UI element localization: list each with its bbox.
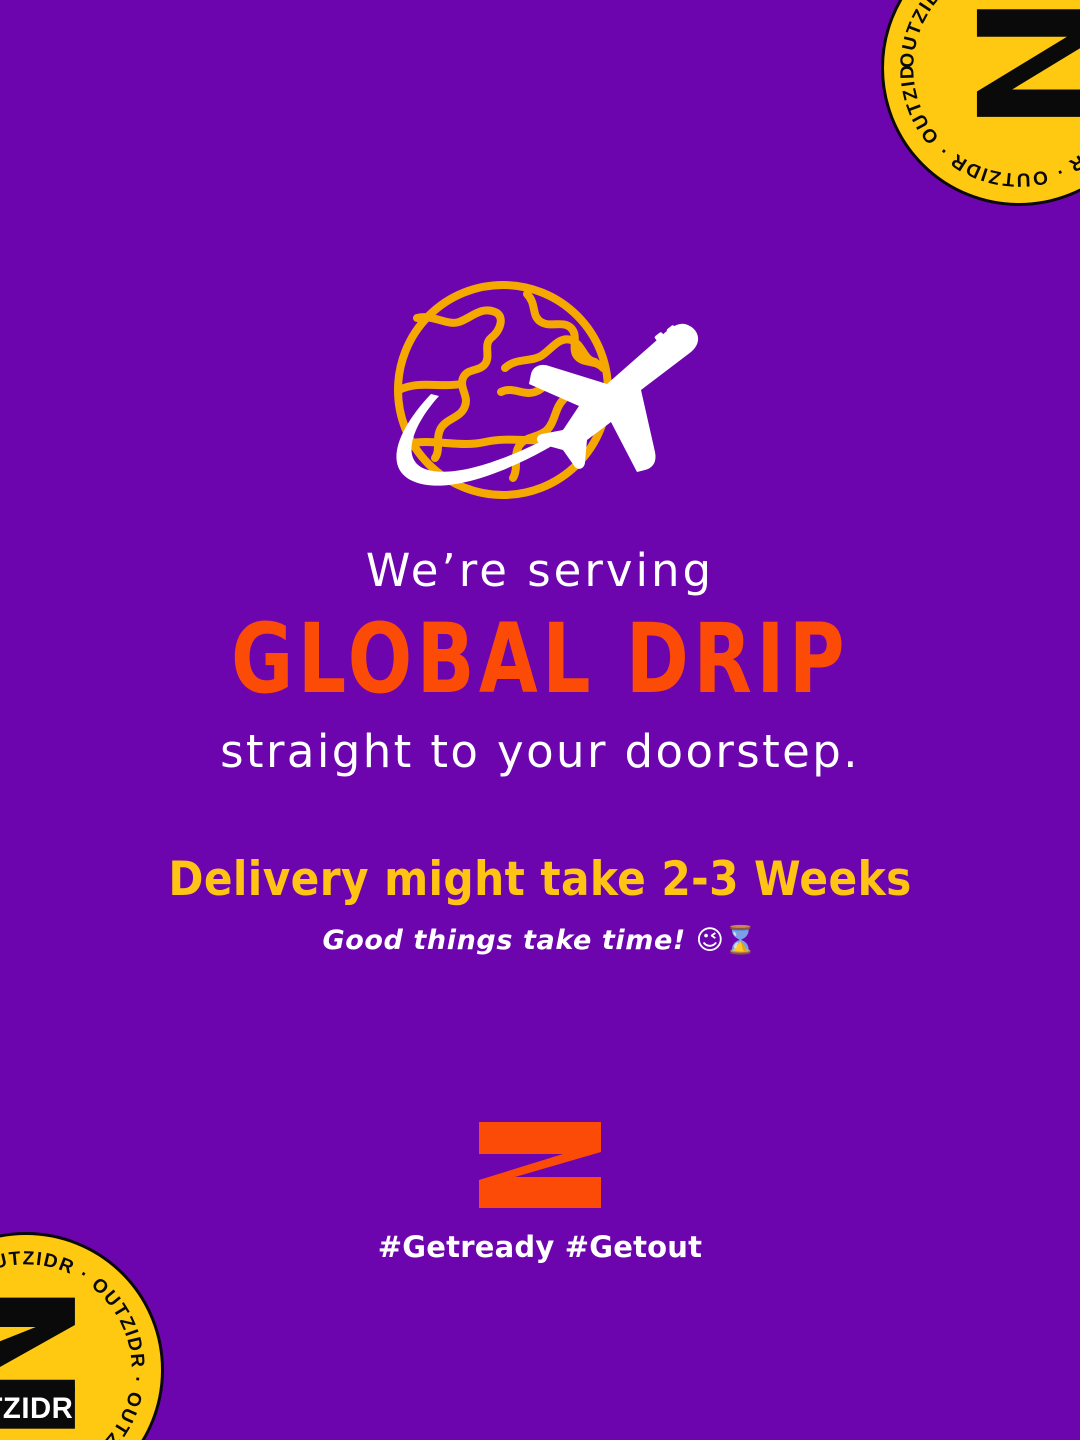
badge-center-z-mark-bottom-left: OUTZIDR (0, 1298, 75, 1429)
copy-block: We’re serving GLOBAL DRIP straight to yo… (0, 548, 1080, 954)
eyebrow-text: We’re serving (0, 548, 1080, 593)
badge-center-z-mark-top-right (977, 9, 1080, 117)
subline-text: straight to your doorstep. (0, 729, 1080, 774)
delivery-note: Delivery might take 2-3 Weeks (0, 856, 1080, 903)
reassurance-text: Good things take time! (322, 925, 685, 956)
brand-badge-top-right: OUTZIDR · OUTZIDR · OUTZIDR · OUTZIDR · … (881, 0, 1080, 206)
reassurance-line: Good things take time! 😉⌛ (0, 927, 1080, 954)
badge-wordmark-bottom-left: OUTZIDR (0, 1392, 73, 1425)
globe-airplane-icon (355, 272, 715, 517)
wink-hourglass-emoji: 😉⌛ (696, 925, 758, 956)
poster-canvas: OUTZIDR · OUTZIDR · OUTZIDR · OUTZIDR · … (0, 0, 1080, 1440)
outzidr-z-logo (479, 1122, 601, 1208)
hashtags-text: #Getready #Getout (0, 1233, 1080, 1262)
footer-block: #Getready #Getout (0, 1122, 1080, 1262)
page-title: GLOBAL DRIP (65, 611, 1015, 707)
brand-badge-bottom-left: OUTZIDR · OUTZIDR · OUTZIDR · OUTZIDR · … (0, 1232, 164, 1440)
